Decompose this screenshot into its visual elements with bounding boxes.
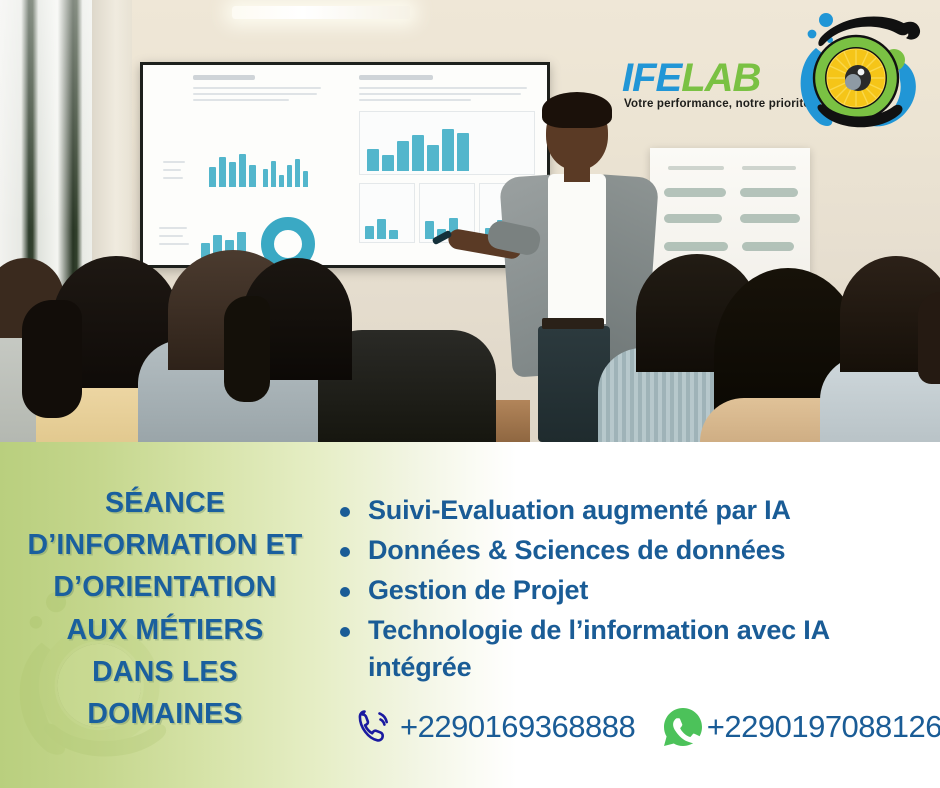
contact-phone[interactable]: +2290169368888 bbox=[352, 704, 635, 750]
list-item: Suivi-Evaluation augmenté par IA bbox=[336, 492, 936, 529]
list-item: Données & Sciences de données bbox=[336, 532, 936, 569]
ifelab-logo: IFELAB Votre performance, notre priorité bbox=[622, 8, 930, 136]
list-item: Technologie de l’information avec IA int… bbox=[336, 612, 936, 686]
poster: IFELAB Votre performance, notre priorité bbox=[0, 0, 940, 788]
contact-whatsapp[interactable]: +2290197088126 bbox=[661, 705, 940, 749]
logo-tagline: Votre performance, notre priorité bbox=[624, 98, 810, 110]
logo-wordmark: IFELAB bbox=[622, 58, 802, 98]
logo-word-lab: LAB bbox=[681, 56, 760, 100]
eye-logo-icon bbox=[794, 8, 926, 136]
title-line: D’ORIENTATION bbox=[0, 566, 330, 608]
title-line: DANS LES bbox=[0, 651, 330, 693]
domains-list: Suivi-Evaluation augmenté par IA Données… bbox=[336, 492, 936, 689]
list-item: Gestion de Projet bbox=[336, 572, 936, 609]
title-line: DOMAINES bbox=[0, 693, 330, 735]
title-line: AUX MÉTIERS bbox=[0, 609, 330, 651]
phone-number: +2290169368888 bbox=[400, 709, 635, 745]
page-title: SÉANCE D’INFORMATION ET D’ORIENTATION AU… bbox=[0, 482, 330, 735]
info-panel: SÉANCE D’INFORMATION ET D’ORIENTATION AU… bbox=[0, 442, 940, 788]
phone-icon bbox=[352, 704, 398, 750]
title-line: D’INFORMATION ET bbox=[0, 524, 330, 566]
hero-photo: IFELAB Votre performance, notre priorité bbox=[0, 0, 940, 442]
contact-row: +2290169368888 +2290197088126 bbox=[352, 704, 940, 750]
ceiling-light bbox=[232, 6, 410, 19]
title-line: SÉANCE bbox=[0, 482, 330, 524]
whatsapp-number: +2290197088126 bbox=[707, 709, 940, 745]
whatsapp-icon bbox=[661, 705, 705, 749]
logo-word-ife: IFE bbox=[622, 56, 681, 100]
